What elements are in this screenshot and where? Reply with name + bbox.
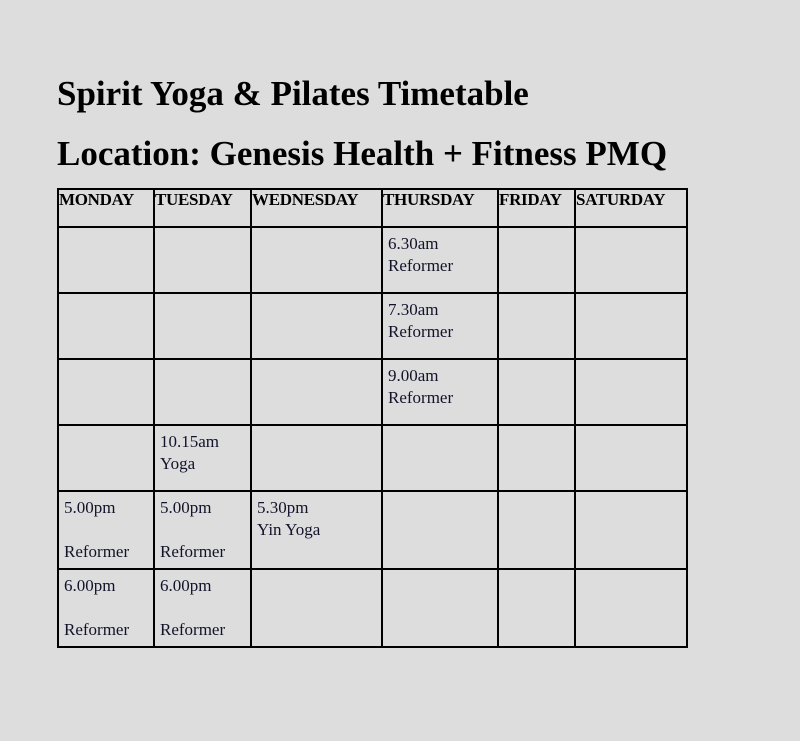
timetable-row: 5.00pmReformer5.00pmReformer5.30pmYin Yo… — [58, 491, 687, 569]
session-time: 5.00pm — [64, 497, 149, 519]
page-subtitle-location: Location: Genesis Health + Fitness PMQ — [57, 124, 777, 184]
empty-cell-saturday — [575, 227, 687, 293]
session-cell-thursday[interactable]: 9.00amReformer — [382, 359, 498, 425]
session-content — [252, 570, 381, 575]
session-cell-monday[interactable]: 6.00pmReformer — [58, 569, 154, 647]
session-cell-thursday[interactable]: 7.30amReformer — [382, 293, 498, 359]
session-content — [576, 492, 686, 497]
empty-cell-saturday — [575, 425, 687, 491]
column-header-wednesday: WEDNESDAY — [251, 189, 382, 227]
session-time: 7.30am — [388, 299, 493, 321]
timetable-row: 9.00amReformer — [58, 359, 687, 425]
session-content — [59, 228, 153, 233]
session-name: Yin Yoga — [257, 519, 377, 541]
empty-cell-wednesday — [251, 425, 382, 491]
session-name: Yoga — [160, 453, 246, 475]
session-content — [576, 426, 686, 431]
session-content — [499, 294, 574, 299]
session-content — [576, 228, 686, 233]
timetable-row: 10.15amYoga — [58, 425, 687, 491]
empty-cell-thursday — [382, 569, 498, 647]
session-content: 9.00amReformer — [383, 360, 497, 409]
session-content — [383, 426, 497, 431]
empty-cell-wednesday — [251, 293, 382, 359]
empty-cell-saturday — [575, 359, 687, 425]
session-content: 10.15amYoga — [155, 426, 250, 475]
empty-cell-wednesday — [251, 359, 382, 425]
session-name: Reformer — [388, 387, 493, 409]
session-time: 6.00pm — [64, 575, 149, 597]
timetable-row: 7.30amReformer — [58, 293, 687, 359]
column-header-saturday: SATURDAY — [575, 189, 687, 227]
session-cell-tuesday[interactable]: 10.15amYoga — [154, 425, 251, 491]
timetable-page: Spirit Yoga & Pilates Timetable Location… — [0, 0, 800, 741]
empty-cell-saturday — [575, 293, 687, 359]
empty-cell-wednesday — [251, 227, 382, 293]
session-cell-wednesday[interactable]: 5.30pmYin Yoga — [251, 491, 382, 569]
empty-cell-thursday — [382, 425, 498, 491]
session-content — [155, 228, 250, 233]
column-header-friday: FRIDAY — [498, 189, 575, 227]
empty-cell-monday — [58, 227, 154, 293]
empty-cell-monday — [58, 359, 154, 425]
session-content — [59, 294, 153, 299]
timetable-header-row: MONDAY TUESDAY WEDNESDAY THURSDAY FRIDAY… — [58, 189, 687, 227]
page-title: Spirit Yoga & Pilates Timetable — [57, 64, 777, 124]
session-content — [499, 426, 574, 431]
session-content — [59, 360, 153, 365]
empty-cell-saturday — [575, 491, 687, 569]
session-content — [252, 360, 381, 365]
session-content — [383, 570, 497, 575]
session-content — [59, 426, 153, 431]
session-cell-tuesday[interactable]: 5.00pmReformer — [154, 491, 251, 569]
session-name: Reformer — [388, 321, 493, 343]
session-time: 5.00pm — [160, 497, 246, 519]
session-time: 10.15am — [160, 431, 246, 453]
session-name: Reformer — [64, 541, 149, 563]
session-content: 5.30pmYin Yoga — [252, 492, 381, 541]
session-content — [576, 294, 686, 299]
session-cell-thursday[interactable]: 6.30amReformer — [382, 227, 498, 293]
empty-cell-friday — [498, 491, 575, 569]
column-header-tuesday: TUESDAY — [154, 189, 251, 227]
session-cell-tuesday[interactable]: 6.00pmReformer — [154, 569, 251, 647]
empty-cell-friday — [498, 569, 575, 647]
session-content — [576, 570, 686, 575]
empty-cell-friday — [498, 293, 575, 359]
session-time: 5.30pm — [257, 497, 377, 519]
column-header-monday: MONDAY — [58, 189, 154, 227]
timetable-body: 6.30amReformer7.30amReformer9.00amReform… — [58, 227, 687, 647]
session-content — [499, 228, 574, 233]
empty-cell-tuesday — [154, 359, 251, 425]
session-name: Reformer — [388, 255, 493, 277]
session-content — [499, 360, 574, 365]
session-name: Reformer — [64, 619, 149, 641]
title-block: Spirit Yoga & Pilates Timetable Location… — [57, 64, 777, 184]
empty-cell-thursday — [382, 491, 498, 569]
session-time: 6.00pm — [160, 575, 246, 597]
session-content: 6.30amReformer — [383, 228, 497, 277]
empty-cell-monday — [58, 293, 154, 359]
empty-cell-friday — [498, 359, 575, 425]
empty-cell-monday — [58, 425, 154, 491]
timetable-row: 6.30amReformer — [58, 227, 687, 293]
session-content: 5.00pmReformer — [59, 492, 153, 563]
session-name: Reformer — [160, 541, 246, 563]
session-content — [155, 360, 250, 365]
session-content — [499, 570, 574, 575]
column-header-thursday: THURSDAY — [382, 189, 498, 227]
session-content: 5.00pmReformer — [155, 492, 250, 563]
session-cell-monday[interactable]: 5.00pmReformer — [58, 491, 154, 569]
session-content: 6.00pmReformer — [59, 570, 153, 641]
session-content — [155, 294, 250, 299]
session-content — [383, 492, 497, 497]
session-content: 6.00pmReformer — [155, 570, 250, 641]
class-timetable: MONDAY TUESDAY WEDNESDAY THURSDAY FRIDAY… — [57, 188, 688, 648]
session-content — [252, 294, 381, 299]
session-content: 7.30amReformer — [383, 294, 497, 343]
empty-cell-wednesday — [251, 569, 382, 647]
empty-cell-saturday — [575, 569, 687, 647]
session-name: Reformer — [160, 619, 246, 641]
session-content — [576, 360, 686, 365]
session-time: 9.00am — [388, 365, 493, 387]
empty-cell-friday — [498, 425, 575, 491]
session-time: 6.30am — [388, 233, 493, 255]
empty-cell-tuesday — [154, 227, 251, 293]
session-content — [252, 228, 381, 233]
session-content — [252, 426, 381, 431]
empty-cell-tuesday — [154, 293, 251, 359]
session-content — [499, 492, 574, 497]
empty-cell-friday — [498, 227, 575, 293]
timetable-row: 6.00pmReformer6.00pmReformer — [58, 569, 687, 647]
